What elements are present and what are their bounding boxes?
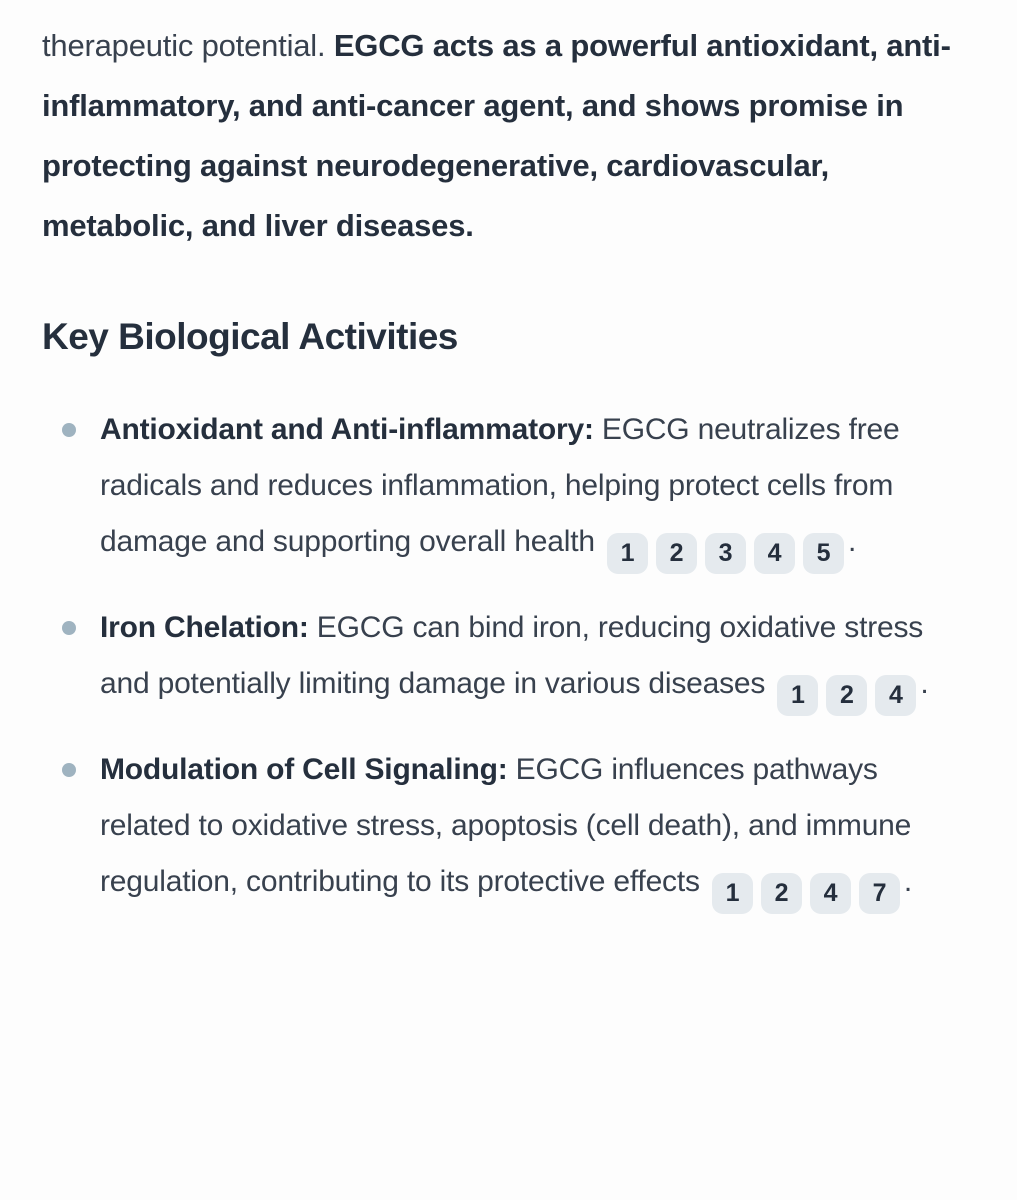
list-item: Antioxidant and Anti-inflammatory: EGCG …: [42, 402, 965, 574]
citation-badge[interactable]: 4: [810, 873, 851, 914]
section-heading-key-biological-activities: Key Biological Activities: [42, 256, 965, 360]
bullet-dot-icon: [62, 621, 76, 635]
citation-badge[interactable]: 4: [875, 675, 916, 716]
list-item: Modulation of Cell Signaling: EGCG influ…: [42, 742, 965, 914]
citation-badge[interactable]: 2: [656, 533, 697, 574]
trailing-period: .: [904, 865, 912, 898]
citation-badge[interactable]: 1: [777, 675, 818, 716]
activity-term: Iron Chelation:: [100, 611, 309, 644]
list-item: Iron Chelation: EGCG can bind iron, redu…: [42, 600, 965, 716]
intro-paragraph: therapeutic potential. EGCG acts as a po…: [42, 0, 965, 256]
citation-badge[interactable]: 2: [826, 675, 867, 716]
citation-badge[interactable]: 1: [712, 873, 753, 914]
trailing-period: .: [920, 667, 928, 700]
citation-badge[interactable]: 3: [705, 533, 746, 574]
citation-badge[interactable]: 2: [761, 873, 802, 914]
activity-term: Antioxidant and Anti-inflammatory:: [100, 413, 594, 446]
bullet-dot-icon: [62, 423, 76, 437]
bullet-dot-icon: [62, 763, 76, 777]
activity-term: Modulation of Cell Signaling:: [100, 753, 508, 786]
article-content-pane: therapeutic potential. EGCG acts as a po…: [0, 0, 1017, 1200]
citation-badge[interactable]: 7: [859, 873, 900, 914]
citation-badge[interactable]: 4: [754, 533, 795, 574]
citation-group: 12345: [603, 525, 848, 558]
citation-badge[interactable]: 5: [803, 533, 844, 574]
trailing-period: .: [848, 525, 856, 558]
citation-group: 1247: [708, 865, 904, 898]
citation-badge[interactable]: 1: [607, 533, 648, 574]
citation-group: 124: [773, 667, 920, 700]
key-biological-activities-list: Antioxidant and Anti-inflammatory: EGCG …: [42, 360, 965, 914]
intro-lead-text: therapeutic potential.: [42, 28, 334, 63]
